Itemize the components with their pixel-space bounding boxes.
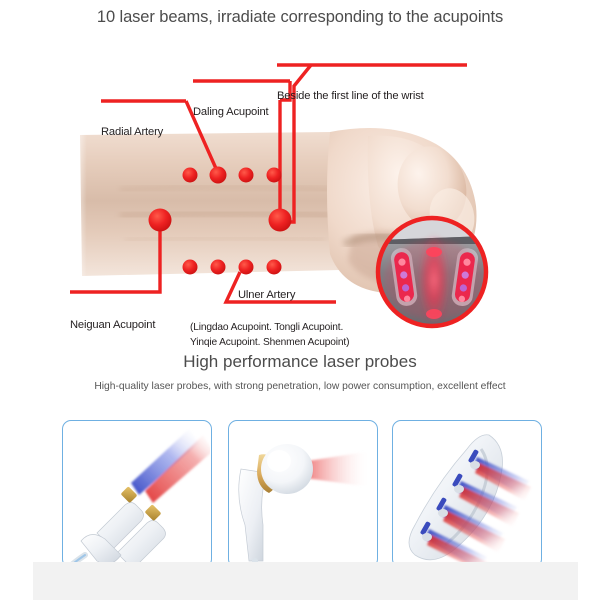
acupoint-dot-neiguan bbox=[149, 209, 172, 232]
page-root: 10 laser beams, irradiate corresponding … bbox=[0, 0, 600, 600]
callout-label-neiguan: Neiguan Acupoint bbox=[70, 319, 155, 331]
callout-label-daling: Daling Acupoint bbox=[193, 106, 269, 118]
callout-label-radial-artery: Radial Artery bbox=[101, 126, 163, 138]
ear-probe-panel[interactable] bbox=[228, 420, 378, 568]
acupoint-dot bbox=[267, 260, 282, 275]
wrist-probe-array-panel[interactable] bbox=[392, 420, 542, 568]
nasal-probe-image bbox=[63, 421, 210, 566]
acupoint-dot bbox=[267, 168, 282, 183]
callout-sub-note-line2: Yinqie Acupoint. Shenmen Acupoint) bbox=[190, 335, 400, 350]
callout-label-ulner-artery: Ulner Artery bbox=[238, 289, 295, 301]
acupoint-dot bbox=[239, 260, 254, 275]
acupoint-dot bbox=[210, 167, 227, 184]
wrist-probe-array-image bbox=[393, 421, 540, 566]
ear-probe-image bbox=[229, 421, 376, 566]
callout-sub-note: (Lingdao Acupoint. Tongli Acupoint. Yinq… bbox=[190, 320, 400, 350]
acupoint-dot bbox=[183, 260, 198, 275]
acupoint-diagram: Beside the first line of the wrist Dalin… bbox=[0, 40, 600, 340]
laser-device-magnifier-inset bbox=[378, 218, 486, 326]
probe-panel-row bbox=[0, 420, 600, 575]
nasal-probe-panel[interactable] bbox=[62, 420, 212, 568]
callout-label-beside-wrist: Beside the first line of the wrist bbox=[277, 90, 424, 102]
acupoint-dot-daling bbox=[269, 209, 292, 232]
footer-band bbox=[33, 562, 578, 600]
page-title: 10 laser beams, irradiate corresponding … bbox=[0, 8, 600, 27]
acupoint-diagram-graphic bbox=[0, 40, 600, 340]
callout-sub-note-line1: (Lingdao Acupoint. Tongli Acupoint. bbox=[190, 320, 400, 335]
acupoint-dot bbox=[211, 260, 226, 275]
acupoint-dot bbox=[239, 168, 254, 183]
section-subtitle: High-quality laser probes, with strong p… bbox=[0, 381, 600, 392]
acupoint-dot bbox=[183, 168, 198, 183]
section-title: High performance laser probes bbox=[0, 352, 600, 372]
